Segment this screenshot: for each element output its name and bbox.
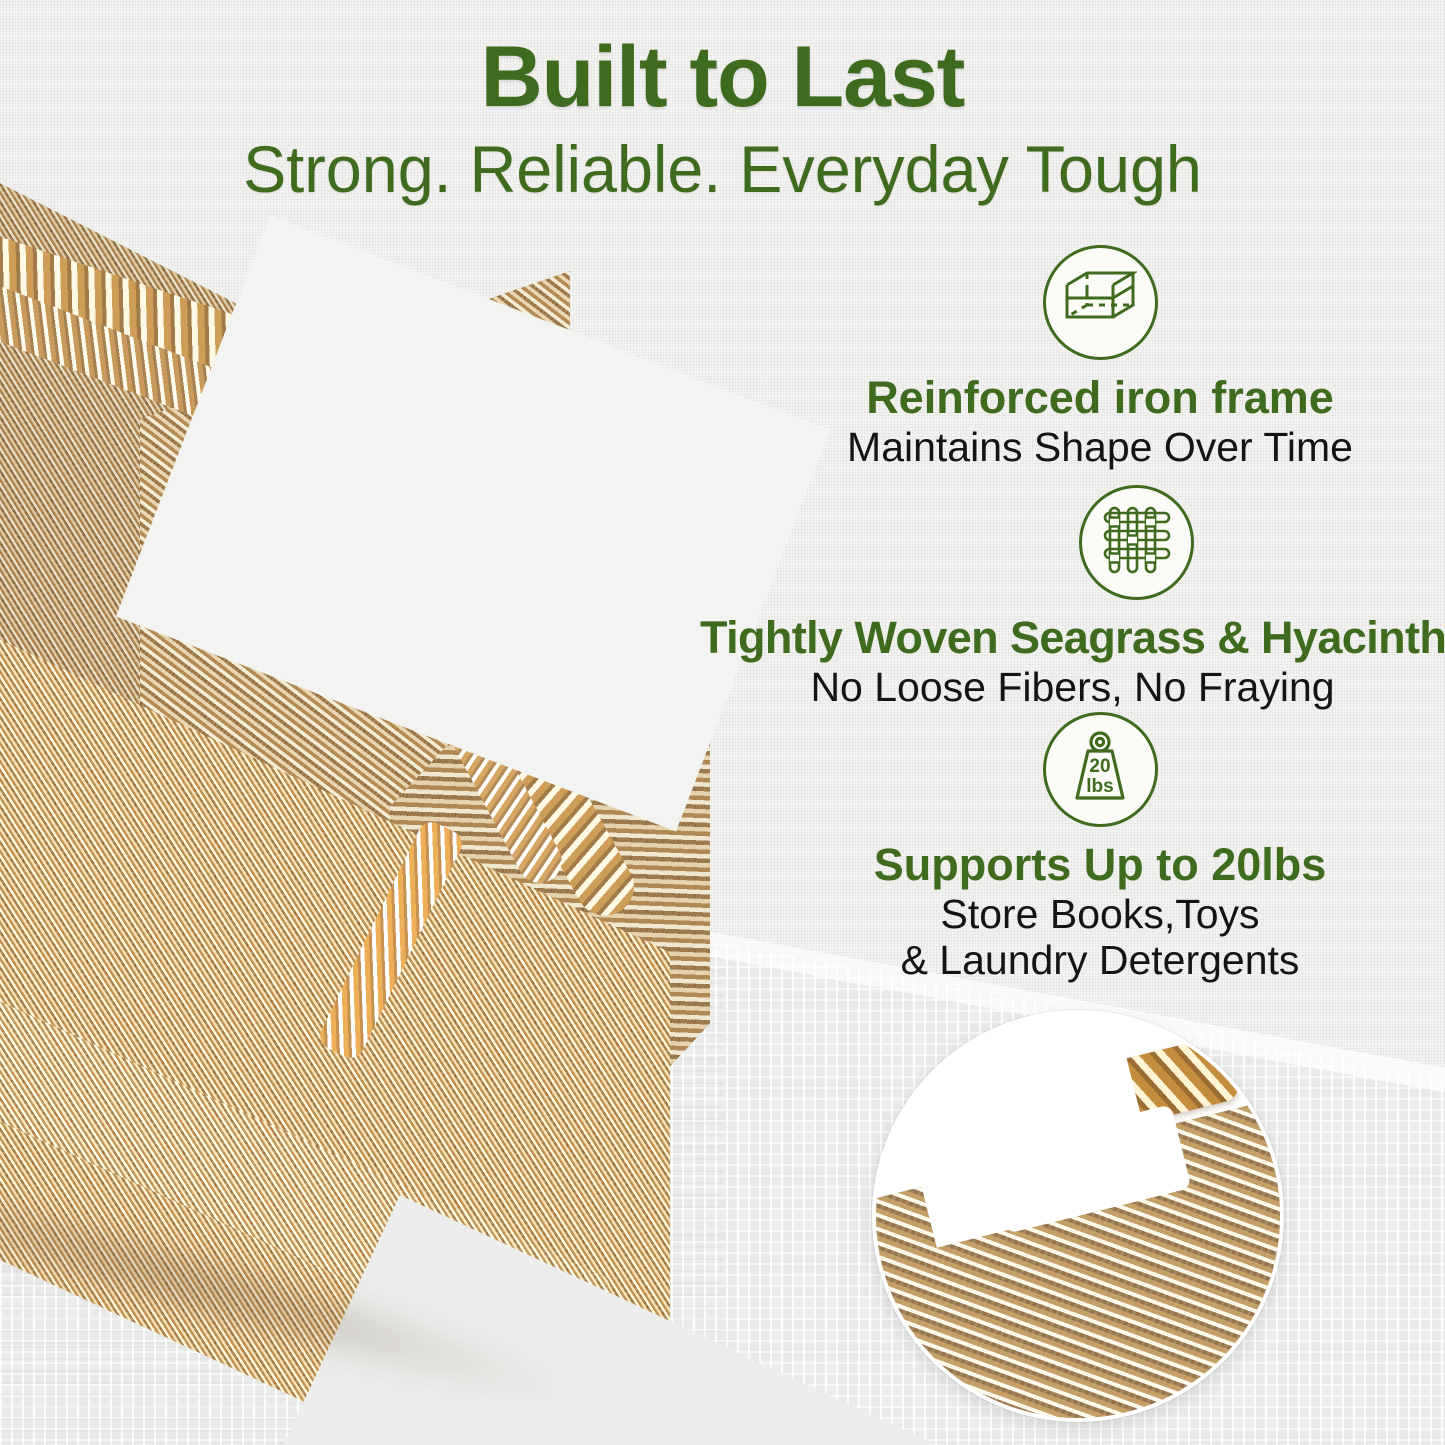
feature-1-subtext: Maintains Shape Over Time [810,425,1390,471]
feature-2-icon-circle [1079,485,1194,600]
feature-1-icon-circle [1043,245,1158,360]
page-subtitle: Strong. Reliable. Everyday Tough [14,136,1430,202]
feature-2-subtext: No Loose Fibers, No Fraying [700,665,1445,711]
weight-icon-value: 20 [1089,756,1110,777]
box-frame-icon [1063,269,1137,336]
handle-closeup-inset [872,1010,1284,1422]
feature-tightly-woven: Tightly Woven Seagrass & Hyacinth No Loo… [700,485,1445,711]
page-title: Built to Last [0,34,1445,120]
feature-reinforced-iron-frame: Reinforced iron frame Maintains Shape Ov… [810,245,1390,471]
weight-icon-unit: lbs [1086,776,1113,797]
feature-supports-20lbs: 20 lbs Supports Up to 20lbs Store Books,… [820,712,1380,984]
feature-2-heading: Tightly Woven Seagrass & Hyacinth [700,614,1445,661]
feature-3-heading: Supports Up to 20lbs [820,841,1380,888]
feature-3-subtext-line2: & Laundry Detergents [820,938,1380,984]
product-photo-basket [0,215,760,1340]
feature-3-subtext-line1: Store Books,Toys [820,892,1380,938]
woven-weave-icon [1101,504,1173,581]
infographic-page: Built to Last Strong. Reliable. Everyday… [0,0,1445,1445]
feature-3-icon-circle: 20 lbs [1043,712,1158,827]
weight-20lbs-icon: 20 lbs [1062,730,1138,809]
feature-1-heading: Reinforced iron frame [810,374,1390,421]
